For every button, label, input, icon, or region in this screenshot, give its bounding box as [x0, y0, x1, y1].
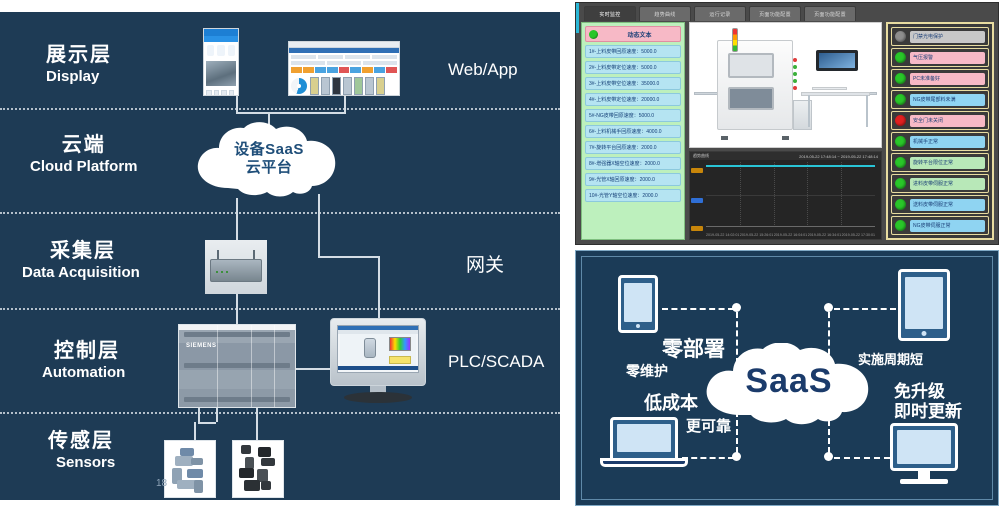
dashboard-status-chips: [291, 67, 397, 73]
status-row-ng-servo-normal[interactable]: NG皮带伺服正常: [891, 216, 989, 235]
monitor-neck: [918, 471, 930, 479]
laptop-screen: [617, 424, 671, 452]
status-led-icon: [895, 73, 906, 84]
link-tablet-to-node: [834, 308, 896, 310]
connector-plc-sensors-c: [216, 408, 218, 422]
chart-series-line: [706, 165, 875, 167]
machine-indicator-leds: [793, 58, 797, 90]
chart-header: 趋势曲线 2019-05-22 17:48:14 ~ 2019-05-22 17…: [690, 152, 881, 160]
status-row-door-photoelectric[interactable]: 门禁光电保护: [891, 27, 989, 46]
gateway-device[interactable]: [205, 240, 267, 294]
stack-light-icon: [732, 28, 738, 52]
status-label: 机械手正常: [910, 136, 985, 148]
sensors-thumbnail-mechanical[interactable]: [164, 440, 216, 498]
plc-controller[interactable]: SIEMENS: [178, 324, 296, 408]
tab-bar-filler: [859, 6, 994, 21]
param-row[interactable]: 6#-上料机械手回原速度：4000.0: [585, 125, 681, 138]
layer-title-en: Data Acquisition: [22, 264, 140, 283]
param-row[interactable]: 8#-增强器X轴空位速度：2000.0: [585, 157, 681, 170]
layer-divider-2: [0, 212, 560, 214]
slide-bottom-margin: [0, 500, 560, 508]
connector-phone-down: [236, 94, 238, 112]
layer-title-cn: 展示层: [46, 44, 112, 67]
chart-y-tag: [691, 168, 703, 173]
app-header-bar: [204, 29, 238, 36]
connector-cloud-to-hmi-b: [318, 256, 378, 258]
mobile-app-thumbnail[interactable]: [203, 28, 239, 96]
cloud-label-line1: 设备SaaS: [186, 141, 352, 159]
link-node-bottom-left: [732, 452, 741, 461]
chart-gridline-h: [706, 195, 875, 196]
gateway-chassis: [210, 259, 262, 282]
equipment-module-icons: [310, 77, 397, 95]
param-row[interactable]: 2#-上料皮带定位速度：5000.0: [585, 61, 681, 74]
chart-y-tag: [691, 198, 703, 203]
status-led-icon: [895, 31, 906, 42]
status-label: 气压报警: [910, 52, 985, 64]
right-label-webapp: Web/App: [448, 60, 518, 80]
chart-x-labels: 2019-05-22 14:02:01 2019-05-22 15:26:01 …: [706, 233, 875, 237]
connector-cloud-to-hmi-c: [378, 256, 380, 318]
dashboard-body: [289, 53, 399, 96]
layer-label-automation: 控制层 Automation: [42, 340, 125, 383]
scada-process-canvas: [340, 334, 416, 367]
chart-plot-area: [706, 162, 875, 227]
machine-foot: [782, 136, 789, 140]
tab-page-config-1[interactable]: 页面功能配置: [749, 6, 801, 21]
architecture-slide: 展示层 Display 云端 Cloud Platform 采集层 Data A…: [0, 0, 560, 508]
status-led-icon: [895, 220, 906, 231]
app-button-grid: [204, 88, 238, 96]
trend-chart: 趋势曲线 2019-05-22 17:48:14 ~ 2019-05-22 17…: [689, 151, 882, 240]
hmi-tab-bar: 实时监控 趋势曲线 运行记录 页面功能配置 页面功能配置: [584, 6, 994, 21]
layer-title-cn: 传感层: [48, 430, 115, 453]
connector-display-bus: [236, 112, 346, 114]
laptop-icon: [610, 417, 678, 461]
slide-page-number: 18: [156, 478, 167, 489]
status-led-icon: [895, 52, 906, 63]
plc-module-seam: [251, 325, 252, 407]
layer-divider-3: [0, 308, 560, 310]
layer-divider-1: [0, 108, 560, 110]
connector-desktop-down: [344, 94, 346, 112]
status-row-rotary-limit-normal[interactable]: 旋转平台限位正常: [891, 153, 989, 172]
scada-statusbar: [338, 366, 418, 370]
chart-x-tick: 2019-05-22 14:02:01: [706, 233, 739, 237]
scada-monitor[interactable]: [330, 318, 426, 386]
machine-view-window: [728, 87, 774, 109]
param-row[interactable]: 9#-光管X轴回原速度：2000.0: [585, 173, 681, 186]
cloud-label: 设备SaaS 云平台: [186, 141, 352, 178]
slide-canvas: 展示层 Display 云端 Cloud Platform 采集层 Data A…: [0, 12, 560, 500]
layer-title-en: Sensors: [56, 454, 115, 473]
slide-top-margin: [0, 0, 560, 12]
connector-gateway-to-plc: [236, 294, 238, 326]
plc-module-seam: [217, 325, 218, 407]
connector-sensors-left: [194, 422, 196, 440]
param-row[interactable]: 7#-旋转平台回原速度：2000.0: [585, 141, 681, 154]
process-tank-icon: [364, 338, 376, 358]
keyboard-icon: [812, 87, 846, 90]
layer-title-cn: 控制层: [54, 340, 125, 363]
layer-label-display: 展示层 Display: [46, 44, 112, 87]
connector-plc-sensors-b: [198, 422, 216, 424]
phone-home-button: [636, 324, 640, 328]
chart-x-tick: 2019-05-22 17:30:01: [842, 233, 875, 237]
dynamic-text-header: 动态文本: [585, 26, 681, 42]
status-row-robot-normal[interactable]: 机械手正常: [891, 132, 989, 151]
status-led-icon: [895, 115, 906, 126]
saas-cloud-label: SaaS: [694, 362, 884, 401]
scada-yellow-panel: [389, 356, 412, 365]
status-row-outfeed-servo-normal[interactable]: 送料皮带伺服正常: [891, 195, 989, 214]
status-led-icon: [895, 157, 906, 168]
connector-cloud-to-hmi-a: [318, 194, 320, 256]
status-row-safety-door-open[interactable]: 安全门未关闭: [891, 111, 989, 130]
link-node-top-right: [824, 303, 833, 312]
param-row[interactable]: 4#-上料皮带定位速度：20000.0: [585, 93, 681, 106]
desktop-dashboard-thumbnail[interactable]: [288, 41, 400, 96]
status-label: 进料皮带伺服正常: [910, 178, 985, 190]
status-led-icon: [895, 136, 906, 147]
monitor-base: [900, 479, 948, 484]
tab-realtime-monitor[interactable]: 实时监控: [584, 6, 636, 21]
chart-x-tick: 2019-05-22 16:34:01: [808, 233, 841, 237]
connector-plc-sensors-a: [198, 408, 200, 422]
layer-title-cn: 云端: [30, 134, 138, 157]
sensors-thumbnail-electronic[interactable]: [232, 440, 284, 498]
parameter-list-panel: 动态文本 1#-上料皮带回原速度：5000.0 2#-上料皮带定位速度：5000…: [581, 22, 685, 240]
color-palette-icon: [389, 337, 412, 351]
param-row[interactable]: 1#-上料皮带回原速度：5000.0: [585, 45, 681, 58]
link-phone-to-node: [662, 308, 734, 310]
status-label: 旋转平台限位正常: [910, 157, 985, 169]
desk-leg: [808, 95, 810, 127]
status-led-icon: [589, 30, 598, 39]
monitor-screen: [337, 325, 419, 373]
status-led-icon: [895, 94, 906, 105]
feature-zero-deployment: 零部署: [662, 333, 725, 363]
status-row-ng-belt-not-full[interactable]: NG皮带尾部料未满: [891, 90, 989, 109]
layer-title-en: Cloud Platform: [30, 158, 138, 177]
connector-sensors-right: [256, 408, 258, 440]
chart-x-axis: [706, 226, 875, 227]
connector-cloud-to-gateway: [236, 198, 238, 240]
machine-photo: [689, 22, 882, 148]
link-monitor-to-node: [834, 457, 890, 459]
operator-desk: [801, 92, 870, 96]
cloud-label-line2: 云平台: [186, 159, 352, 177]
feature-more-reliable: 更可靠: [686, 415, 731, 436]
param-row[interactable]: 3#-上料皮带空位速度：35000.0: [585, 77, 681, 90]
hmi-center-column: 趋势曲线 2019-05-22 17:48:14 ~ 2019-05-22 17…: [689, 22, 882, 240]
chart-y-tag: [691, 226, 703, 231]
right-label-plcscada: PLC/SCADA: [448, 352, 544, 372]
status-label: 送料皮带伺服正常: [910, 199, 985, 211]
smartphone-icon: [618, 275, 658, 333]
link-laptop-to-node: [682, 457, 734, 459]
tablet-screen: [905, 277, 943, 329]
layer-divider-4: [0, 412, 560, 414]
param-row[interactable]: 5#-NG皮带回原速度：5000.0: [585, 109, 681, 122]
feature-zero-maintenance: 零维护: [626, 361, 668, 381]
status-row-air-pressure-alarm[interactable]: 气压报警: [891, 48, 989, 67]
status-led-icon: [895, 178, 906, 189]
status-indicator-panel: 门禁光电保护 气压报警 PC未准备好 NG皮带尾部料未满 安全门未关闭: [886, 22, 994, 240]
operator-monitor-icon: [816, 50, 858, 71]
param-row[interactable]: 10#-光管Y轴空位速度：2000.0: [585, 189, 681, 202]
desktop-screen: [897, 430, 951, 464]
hmi-content: 动态文本 1#-上料皮带回原速度：5000.0 2#-上料皮带定位速度：5000…: [581, 22, 994, 240]
layer-label-sensors: 传感层 Sensors: [42, 430, 115, 473]
status-label: NG皮带尾部料未满: [910, 94, 985, 106]
layer-title-en: Automation: [42, 364, 125, 383]
desk-leg: [866, 95, 868, 127]
tablet-home-button: [922, 331, 927, 336]
right-label-gateway: 网关: [466, 250, 504, 277]
phone-screen: [624, 283, 652, 322]
app-machine-photo: [206, 61, 236, 86]
hmi-monitoring-panel: 实时监控 趋势曲线 运行记录 页面功能配置 页面功能配置 动态文本 1#-上料皮…: [575, 2, 999, 245]
tab-trend-curve[interactable]: 趋势曲线: [639, 6, 691, 21]
screenshot-root: 展示层 Display 云端 Cloud Platform 采集层 Data A…: [0, 0, 1000, 508]
machine-foot: [721, 136, 728, 140]
dashboard-info-row: [291, 55, 397, 59]
chart-x-tick: 2019-05-22 16:04:01: [774, 233, 807, 237]
layer-label-acquisition: 采集层 Data Acquisition: [22, 240, 140, 283]
link-node-top-left: [732, 303, 741, 312]
tab-page-config-2[interactable]: 页面功能配置: [804, 6, 856, 21]
layer-title-cn: 采集层: [50, 240, 140, 263]
chart-x-tick: 2019-05-22 15:26:01: [740, 233, 773, 237]
laptop-base: [600, 458, 688, 467]
dynamic-text-label: 动态文本: [602, 30, 677, 39]
machine-hmi-screen: [728, 53, 774, 78]
feature-instant-update: 即时更新: [894, 397, 962, 422]
status-label: 安全门未关闭: [910, 115, 985, 127]
plc-module-seam: [274, 325, 275, 407]
status-row-infeed-servo-normal[interactable]: 进料皮带伺服正常: [891, 174, 989, 193]
cloud-platform-shape: 设备SaaS 云平台: [186, 122, 352, 198]
dashboard-main-row: [291, 75, 397, 96]
saas-benefits-panel: SaaS 零部署 零维护 低成本 更可靠 实施周期短 免升级 即时更新: [575, 250, 999, 506]
monitor-stand-base: [344, 392, 412, 403]
chart-time-range: 2019-05-22 17:48:14 ~ 2019-05-22 17:48:1…: [799, 154, 878, 159]
plc-brand-label: SIEMENS: [186, 343, 217, 349]
dashboard-info-row: [291, 61, 397, 65]
chart-title: 趋势曲线: [693, 153, 709, 159]
panel-accent-bar: [576, 3, 579, 33]
feature-short-cycle: 实施周期短: [858, 349, 923, 368]
link-node-bottom-right: [824, 452, 833, 461]
status-label: NG皮带伺服正常: [910, 220, 985, 232]
tablet-icon: [898, 269, 950, 341]
tab-operation-record[interactable]: 运行记录: [694, 6, 746, 21]
status-label: 门禁光电保护: [910, 31, 985, 43]
feature-low-cost: 低成本: [644, 389, 698, 415]
status-label: PC未准备好: [910, 73, 985, 85]
desktop-monitor-icon: [890, 423, 958, 471]
status-row-pc-not-ready[interactable]: PC未准备好: [891, 69, 989, 88]
layer-title-en: Display: [46, 68, 112, 87]
donut-chart-icon: [291, 78, 307, 94]
layer-label-cloud: 云端 Cloud Platform: [30, 134, 138, 177]
status-led-icon: [895, 199, 906, 210]
app-icon-row: [204, 42, 238, 59]
